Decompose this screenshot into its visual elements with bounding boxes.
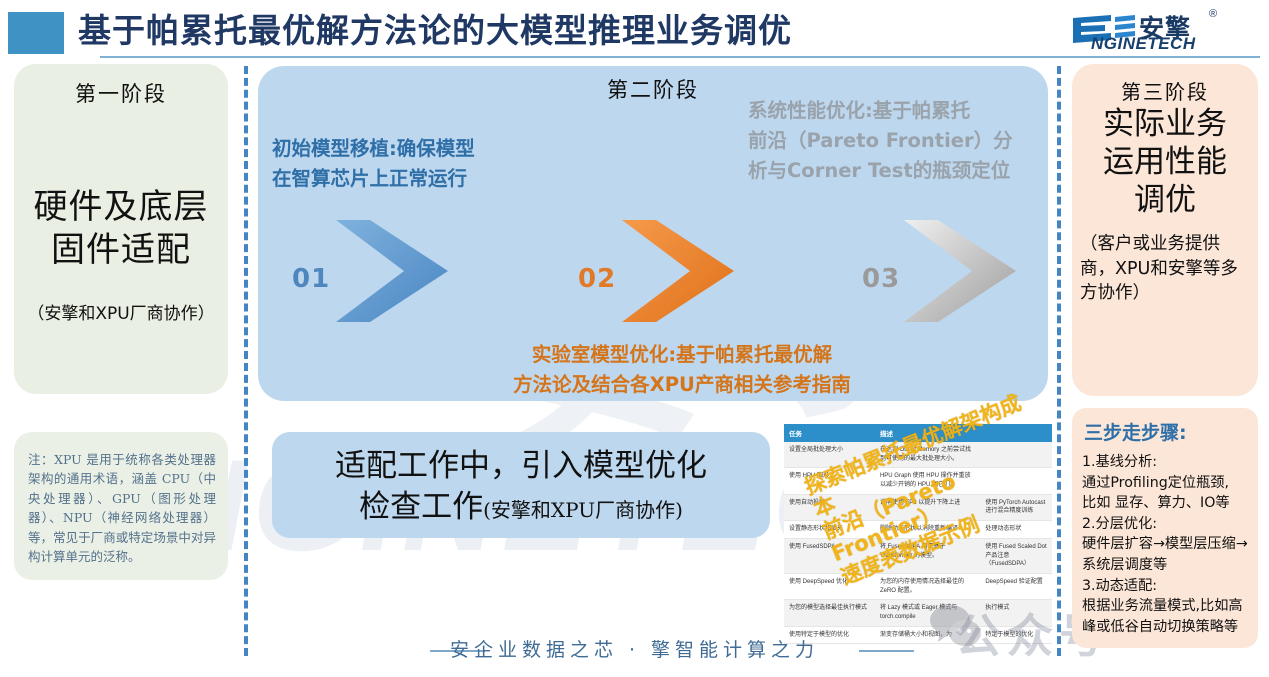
- stage-3-panel: 第三阶段 实际业务 运用性能 调优 （客户或业务提供商，XPU和安擎等多方协作）: [1072, 64, 1258, 396]
- step-02-number: 02: [578, 264, 616, 294]
- step-01-number: 01: [292, 264, 330, 294]
- cell-task: 为您的模型选择最佳执行模式: [784, 600, 875, 626]
- footer-slogan: 安企业数据之芯 · 擎智能计算之力: [0, 635, 1269, 662]
- company-logo: 安擎 ® NGINETECH: [1069, 8, 1259, 52]
- cell-link: 处理动态形状: [980, 521, 1052, 539]
- footer-rule-right: [859, 650, 914, 652]
- table-col-desc: 描述: [875, 424, 980, 442]
- cell-link: 执行模式: [980, 600, 1052, 626]
- registered-mark-icon: ®: [1209, 8, 1217, 20]
- stage-1-panel: 第一阶段 硬件及底层 固件适配 （安擎和XPU厂商协作）: [14, 64, 228, 394]
- cell-task: 使用 DeepSpeed 优化: [784, 573, 875, 599]
- step-02-caption: 实验室模型优化:基于帕累托最优解 方法论及结合各XPU产商相关参考指南: [452, 340, 912, 400]
- slide-header: 基于帕累托最优解方法论的大模型推理业务调优 安擎 ® NGINETECH: [0, 0, 1269, 56]
- cell-link: DeepSpeed 验证配置: [980, 573, 1052, 599]
- cell-desc: 在达到 Out of Memory 之前尝试找到可使用的最大批处理大小。: [875, 442, 980, 468]
- xpu-note-text: 注：XPU 是用于统称各类处理器架构的通用术语，涵盖 CPU（中央处理器）、GP…: [28, 450, 216, 566]
- stage-3-title: 实际业务 运用性能 调优: [1072, 106, 1258, 219]
- cell-link: [980, 468, 1052, 494]
- adaptation-callout-sub: (安擎和XPU厂商协作): [483, 498, 683, 522]
- header-accent-block: [8, 12, 64, 54]
- cell-task: 使用自动投射: [784, 494, 875, 520]
- cell-link: 使用 PyTorch Autocast 进行混合精度训练: [980, 494, 1052, 520]
- table-col-task: 任务: [784, 424, 875, 442]
- cell-desc: 删除动态形状以消除重新编译: [875, 521, 980, 539]
- cell-desc: 为您的内存使用情况选择最佳的 ZeRO 配置。: [875, 573, 980, 599]
- step-01-caption: 初始模型移植:确保模型 在智算芯片上正常运行: [272, 134, 562, 194]
- divider-stage1-stage2: [244, 66, 248, 656]
- stage-1-title: 硬件及底层 固件适配: [14, 186, 228, 271]
- cell-desc: 将 Lazy 模式或 Eager 模式与 torch.compile: [875, 600, 980, 626]
- table-row: 设置全局批处理大小在达到 Out of Memory 之前尝试找到可使用的最大批…: [784, 442, 1052, 468]
- cell-link: [980, 442, 1052, 468]
- step-03-number: 03: [862, 264, 900, 294]
- step-03-caption: 系统性能优化:基于帕累托 前沿（Pareto Frontier）分 析与Corn…: [748, 96, 1048, 187]
- stage-1-subtitle: （安擎和XPU厂商协作）: [14, 299, 228, 324]
- optimization-task-table: 任务 描述 设置全局批处理大小在达到 Out of Memory 之前尝试找到可…: [784, 424, 1052, 644]
- stage-1-heading: 第一阶段: [14, 78, 228, 108]
- divider-stage2-stage3: [1057, 66, 1061, 656]
- chevron-step-01-icon: [330, 216, 454, 326]
- slide-canvas: 安擎 ENGINETECH 基于帕累托最优解方法论的大模型推理业务调优 安擎 ®…: [0, 0, 1269, 677]
- cell-link: 使用 Fused Scaled Dot 产品注意（FusedSDPA）: [980, 538, 1052, 573]
- adaptation-callout-box: 适配工作中，引入模型优化 检查工作(安擎和XPU厂商协作): [272, 432, 770, 538]
- three-step-heading: 三步走步骤:: [1084, 418, 1187, 445]
- table-col-link: [980, 424, 1052, 442]
- three-step-body: 1.基线分析: 通过Profiling定位瓶颈, 比如 显存、算力、IO等 2.…: [1082, 452, 1252, 637]
- cell-task: 设置全局批处理大小: [784, 442, 875, 468]
- table-row: 使用 FusedSDPA将 FusedSDPA 用于基于 Transformer…: [784, 538, 1052, 573]
- reference-table-figure: 任务 描述 设置全局批处理大小在达到 Out of Memory 之前尝试找到可…: [784, 424, 1052, 652]
- cell-desc: 说明使用 FP8 以提升下降上进: [875, 494, 980, 520]
- three-step-box: 三步走步骤: 1.基线分析: 通过Profiling定位瓶颈, 比如 显存、算力…: [1072, 408, 1258, 648]
- cell-desc: 将 FusedSDPA 用于基于 Transformer 的模型。: [875, 538, 980, 573]
- cell-desc: HPU Graph 使用 HPU 操作并重放以减少开销的 HPU 图它们。: [875, 468, 980, 494]
- page-title: 基于帕累托最优解方法论的大模型推理业务调优: [78, 4, 792, 52]
- stage-3-heading: 第三阶段: [1072, 76, 1258, 105]
- slide-footer: 安企业数据之芯 · 擎智能计算之力: [0, 635, 1269, 665]
- adaptation-callout-text: 适配工作中，引入模型优化 检查工作(安擎和XPU厂商协作): [286, 446, 756, 528]
- header-divider: [100, 56, 1260, 58]
- table-row: 为您的模型选择最佳执行模式将 Lazy 模式或 Eager 模式与 torch.…: [784, 600, 1052, 626]
- table-row: 使用自动投射说明使用 FP8 以提升下降上进使用 PyTorch Autocas…: [784, 494, 1052, 520]
- logo-text-en: NGINETECH: [1091, 34, 1196, 54]
- cell-task: 使用 FusedSDPA: [784, 538, 875, 573]
- cell-task: 使用 HPU 图形: [784, 468, 875, 494]
- table-row: 使用 DeepSpeed 优化为您的内存使用情况选择最佳的 ZeRO 配置。De…: [784, 573, 1052, 599]
- xpu-note-box: 注：XPU 是用于统称各类处理器架构的通用术语，涵盖 CPU（中央处理器）、GP…: [14, 432, 228, 580]
- cell-task: 设置静态形状和填充: [784, 521, 875, 539]
- chevron-step-03-icon: [898, 216, 1022, 326]
- table-header-row: 任务 描述: [784, 424, 1052, 442]
- table-row: 设置静态形状和填充删除动态形状以消除重新编译处理动态形状: [784, 521, 1052, 539]
- chevron-step-02-icon: [616, 216, 740, 326]
- table-row: 使用 HPU 图形HPU Graph 使用 HPU 操作并重放以减少开销的 HP…: [784, 468, 1052, 494]
- stage-3-subtitle: （客户或业务提供商，XPU和安擎等多方协作）: [1080, 232, 1252, 306]
